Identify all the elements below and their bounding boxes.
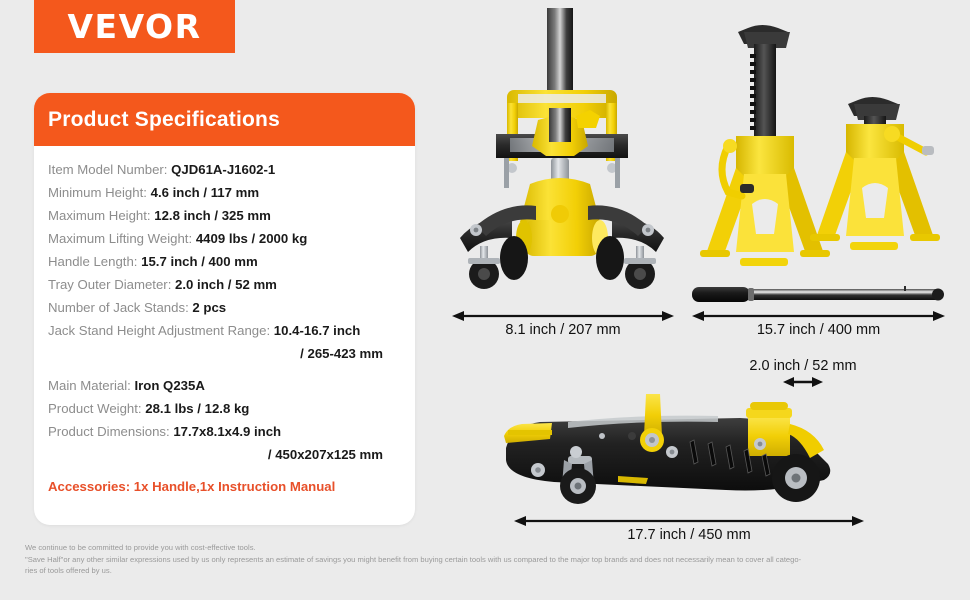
- spec-label: Handle Length:: [48, 254, 141, 269]
- spec-value: 17.7x8.1x4.9 inch: [173, 424, 281, 439]
- spec-value: QJD61A-J1602-1: [171, 162, 275, 177]
- jack-stands-svg: [700, 18, 950, 278]
- spec-row-handle-length: Handle Length: 15.7 inch / 400 mm: [48, 250, 405, 273]
- spec-value: 4409 lbs / 2000 kg: [196, 231, 307, 246]
- spec-list: Item Model Number: QJD61A-J1602-1 Minimu…: [34, 146, 415, 498]
- spec-label: Tray Outer Diameter:: [48, 277, 175, 292]
- spec-value: 12.8 inch / 325 mm: [154, 208, 271, 223]
- spec-label: Main Material:: [48, 378, 134, 393]
- spec-row-min-height: Minimum Height: 4.6 inch / 117 mm: [48, 181, 405, 204]
- floor-jack-front-view-image: [452, 8, 672, 308]
- disclaimer-line-3: ries of tools offered by us.: [25, 565, 955, 577]
- spec-label: Item Model Number:: [48, 162, 171, 177]
- spec-row-stand-height-range: Jack Stand Height Adjustment Range: 10.4…: [48, 319, 405, 342]
- spec-value: 15.7 inch / 400 mm: [141, 254, 258, 269]
- disclaimer-line-1: We continue to be committed to provide y…: [25, 542, 955, 554]
- vevor-logo: VEVOR: [34, 0, 235, 53]
- jack-length-arrow: [514, 515, 864, 527]
- product-specifications-card: Product Specifications Item Model Number…: [34, 93, 415, 525]
- jack-handle-bar-image: [692, 286, 945, 304]
- tray-diameter-label: 2.0 inch / 52 mm: [718, 358, 888, 374]
- spec-card-header: Product Specifications: [34, 93, 415, 146]
- spec-value: 4.6 inch / 117 mm: [151, 185, 260, 200]
- spec-row-stand-height-range-continued: / 265-423 mm: [48, 342, 405, 365]
- jack-width-label: 8.1 inch / 207 mm: [452, 322, 674, 338]
- disclaimer-line-2: "Save Half"or any other similar expressi…: [25, 554, 955, 566]
- spec-row-product-dimensions: Product Dimensions: 17.7x8.1x4.9 inch: [48, 420, 405, 443]
- spec-value: 28.1 lbs / 12.8 kg: [145, 401, 249, 416]
- product-spec-page: VEVOR Product Specifications Item Model …: [0, 0, 970, 600]
- spec-value: Iron Q235A: [134, 378, 204, 393]
- tray-diameter-arrow: [783, 376, 823, 388]
- spec-label: Product Weight:: [48, 401, 145, 416]
- spec-label: Minimum Height:: [48, 185, 151, 200]
- jack-width-arrow: [452, 310, 674, 322]
- jack-stands-image: [700, 18, 950, 278]
- jack-side-svg: [500, 390, 900, 510]
- handle-svg: [692, 286, 945, 304]
- disclaimer-text: We continue to be committed to provide y…: [25, 542, 955, 577]
- spec-label: Jack Stand Height Adjustment Range:: [48, 323, 274, 338]
- jack-front-svg: [452, 8, 672, 308]
- spec-label: Number of Jack Stands:: [48, 300, 192, 315]
- spec-row-model: Item Model Number: QJD61A-J1602-1: [48, 158, 405, 181]
- spec-value: 2 pcs: [192, 300, 226, 315]
- spec-row-product-dimensions-continued: / 450x207x125 mm: [48, 443, 405, 466]
- spec-label: Maximum Lifting Weight:: [48, 231, 196, 246]
- handle-length-arrow: [692, 310, 945, 322]
- spec-row-product-weight: Product Weight: 28.1 lbs / 12.8 kg: [48, 397, 405, 420]
- spec-label: Maximum Height:: [48, 208, 154, 223]
- spec-value: 10.4-16.7 inch: [274, 323, 361, 338]
- spec-row-max-lifting-weight: Maximum Lifting Weight: 4409 lbs / 2000 …: [48, 227, 405, 250]
- brand-name: VEVOR: [67, 7, 201, 46]
- jack-length-label: 17.7 inch / 450 mm: [514, 527, 864, 543]
- spec-row-tray-diameter: Tray Outer Diameter: 2.0 inch / 52 mm: [48, 273, 405, 296]
- spec-row-accessories: Accessories: 1x Handle,1x Instruction Ma…: [48, 466, 405, 498]
- spec-row-main-material: Main Material: Iron Q235A: [48, 374, 405, 397]
- spec-row-number-of-stands: Number of Jack Stands: 2 pcs: [48, 296, 405, 319]
- spec-value: 2.0 inch / 52 mm: [175, 277, 277, 292]
- handle-length-label: 15.7 inch / 400 mm: [692, 322, 945, 338]
- spec-row-max-height: Maximum Height: 12.8 inch / 325 mm: [48, 204, 405, 227]
- spec-divider-gap: [48, 365, 405, 374]
- spec-label: Product Dimensions:: [48, 424, 173, 439]
- floor-jack-side-view-image: [500, 390, 900, 510]
- page-title: Product Specifications: [34, 108, 280, 132]
